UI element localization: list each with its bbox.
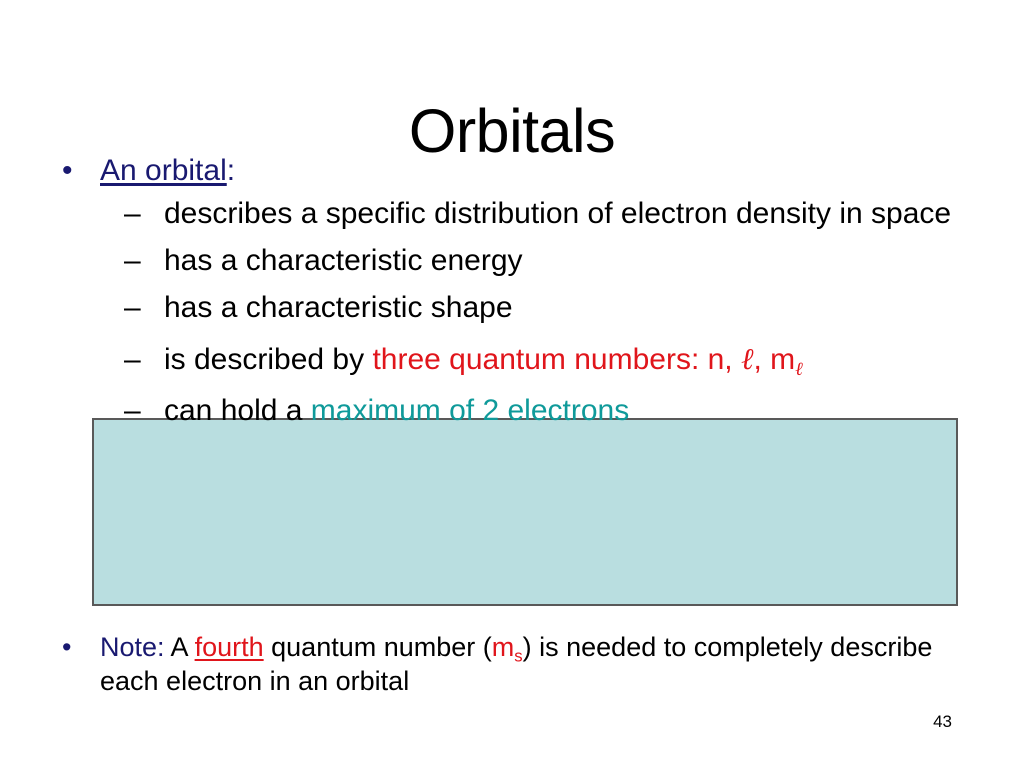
- quantum-number-m-symbol: m: [770, 343, 795, 376]
- bullet-an-orbital-label: An orbital: [100, 154, 227, 187]
- list-item-energy-text: has a characteristic energy: [164, 244, 523, 277]
- quantum-number-ell-symbol: ℓ: [741, 343, 754, 376]
- bullet-an-orbital-colon: :: [227, 154, 235, 187]
- highlight-callout-box: [92, 418, 958, 606]
- orbital-properties-list: – describes a specific distribution of e…: [52, 195, 972, 430]
- spin-quantum-number-subscript: s: [514, 646, 522, 665]
- note-part1: A: [165, 632, 195, 662]
- list-item-capacity-teal: maximum of 2 electrons: [311, 394, 629, 427]
- list-item-quantum-numbers-lead: is described by: [164, 343, 372, 376]
- note-part2: quantum number (: [264, 632, 492, 662]
- list-item-shape-text: has a characteristic shape: [164, 291, 513, 324]
- list-item-capacity-lead: can hold a: [164, 394, 311, 427]
- list-item-capacity: – can hold a maximum of 2 electrons: [52, 392, 972, 430]
- bullet-note: • Note: A fourth quantum number (ms) is …: [52, 630, 952, 698]
- spin-quantum-number-m-symbol: m: [492, 632, 515, 662]
- quantum-number-m-subscript: ℓ: [795, 359, 803, 380]
- list-item-energy: – has a characteristic energy: [52, 242, 972, 280]
- dash-bullet-icon: –: [124, 195, 141, 233]
- quantum-number-comma: ,: [753, 343, 770, 376]
- list-item-describes: – describes a specific distribution of e…: [52, 195, 972, 233]
- list-item-quantum-numbers-red: three quantum numbers: n,: [372, 343, 741, 376]
- dash-bullet-icon: –: [124, 242, 141, 280]
- slide-canvas: Orbitals • An orbital: – describes a spe…: [0, 0, 1024, 768]
- dash-bullet-icon: –: [124, 341, 141, 379]
- list-item-shape: – has a characteristic shape: [52, 289, 972, 327]
- page-number: 43: [933, 712, 952, 732]
- bullet-dot-icon: •: [62, 630, 71, 664]
- list-item-describes-text: describes a specific distribution of ele…: [164, 197, 951, 230]
- bullet-dot-icon: •: [62, 152, 73, 189]
- note-label: Note:: [100, 632, 165, 662]
- slide-body: • An orbital: – describes a specific dis…: [52, 152, 972, 439]
- list-item-quantum-numbers: – is described by three quantum numbers:…: [52, 341, 972, 379]
- dash-bullet-icon: –: [124, 289, 141, 327]
- dash-bullet-icon: –: [124, 392, 141, 430]
- note-fourth-emphasis: fourth: [195, 632, 264, 662]
- bullet-an-orbital: • An orbital:: [52, 152, 972, 189]
